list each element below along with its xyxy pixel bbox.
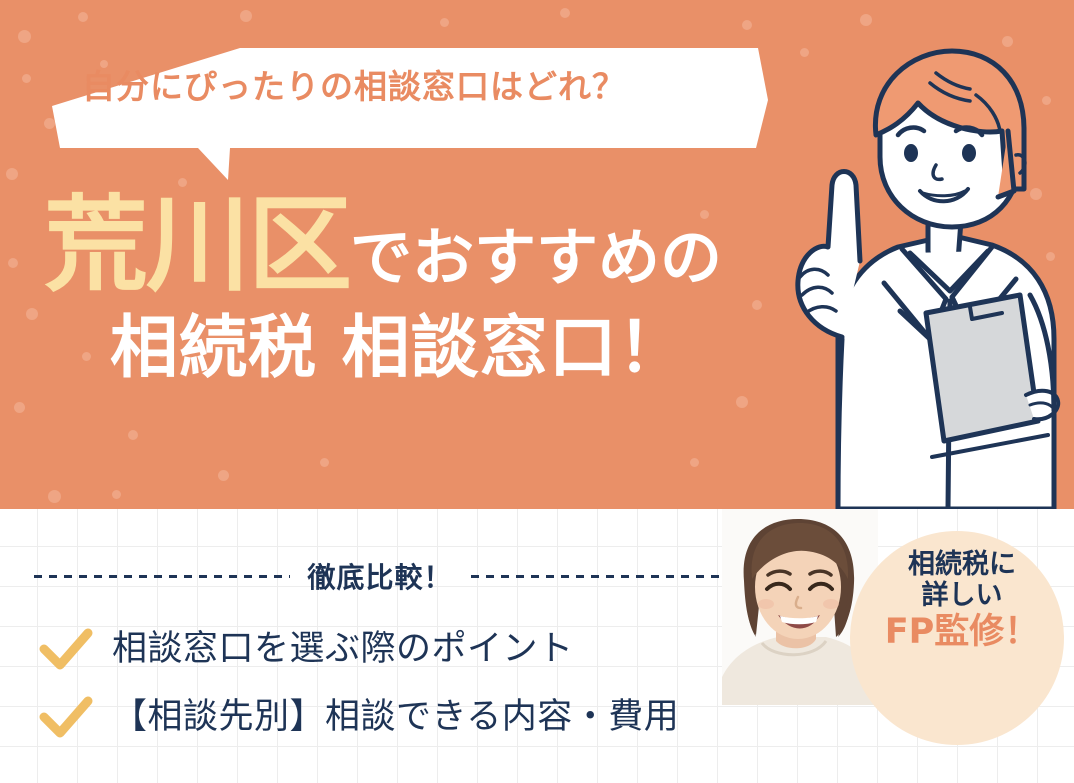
speech-bubble: 自分にぴったりの相談窓口はどれ？	[30, 44, 770, 182]
decorative-dot	[112, 490, 121, 499]
speech-bubble-shape	[30, 44, 770, 182]
dotted-rule-right	[471, 575, 727, 578]
headline-line-1: 荒川区 でおすすめの	[0, 196, 790, 295]
decorative-dot	[128, 430, 138, 440]
decorative-dot	[6, 168, 18, 180]
bottom-section: 徹底比較！ 相談窓口を選ぶ際のポイント 【相談先別】相談できる内容・費用	[0, 509, 1074, 783]
decorative-dot	[690, 458, 699, 467]
illustration-svg	[780, 39, 1074, 509]
decorative-dot	[560, 8, 570, 18]
decorative-dot	[320, 458, 329, 467]
compare-heading-row: 徹底比較！	[34, 559, 726, 593]
decorative-dot	[18, 30, 31, 43]
fp-badge-line-3: FP監修！	[880, 612, 1044, 653]
headline: 荒川区 でおすすめの 相続税 相談窓口！	[0, 196, 790, 383]
dotted-rule-left	[34, 575, 290, 578]
list-item: 相談窓口を選ぶ際のポイント	[38, 627, 574, 671]
hero-section: 自分にぴったりの相談窓口はどれ？ 荒川区 でおすすめの 相続税 相談窓口！	[0, 0, 1074, 509]
list-item-label: 相談窓口を選ぶ際のポイント	[112, 632, 574, 667]
headline-line-2: 相続税 相談窓口！	[0, 315, 790, 383]
fp-badge-line-1: 相続税に	[880, 549, 1044, 580]
banner-canvas: 自分にぴったりの相談窓口はどれ？ 荒川区 でおすすめの 相続税 相談窓口！	[0, 0, 1074, 783]
check-icon	[38, 695, 94, 739]
list-item-label: 【相談先別】相談できる内容・費用	[112, 700, 679, 735]
decorative-dot	[78, 12, 88, 22]
headline-city: 荒川区	[44, 196, 350, 295]
compare-label: 徹底比較！	[308, 556, 453, 596]
fp-supervision-badge-text: 相続税に 詳しい FP監修！	[880, 549, 1044, 652]
decorative-dot	[240, 10, 252, 22]
decorative-dot	[860, 14, 872, 26]
decorative-dot	[48, 490, 61, 503]
speech-bubble-text: 自分にぴったりの相談窓口はどれ？	[82, 70, 742, 103]
decorative-dot	[218, 470, 229, 481]
headline-suffix: でおすすめの	[350, 227, 722, 295]
decorative-dot	[440, 18, 449, 27]
fp-badge-line-2: 詳しい	[880, 580, 1044, 611]
decorative-dot	[742, 20, 752, 30]
check-icon	[38, 627, 94, 671]
list-item: 【相談先別】相談できる内容・費用	[38, 695, 679, 739]
decorative-dot	[736, 396, 748, 408]
woman-pointing-up-illustration	[780, 39, 1074, 509]
decorative-dot	[14, 402, 25, 413]
